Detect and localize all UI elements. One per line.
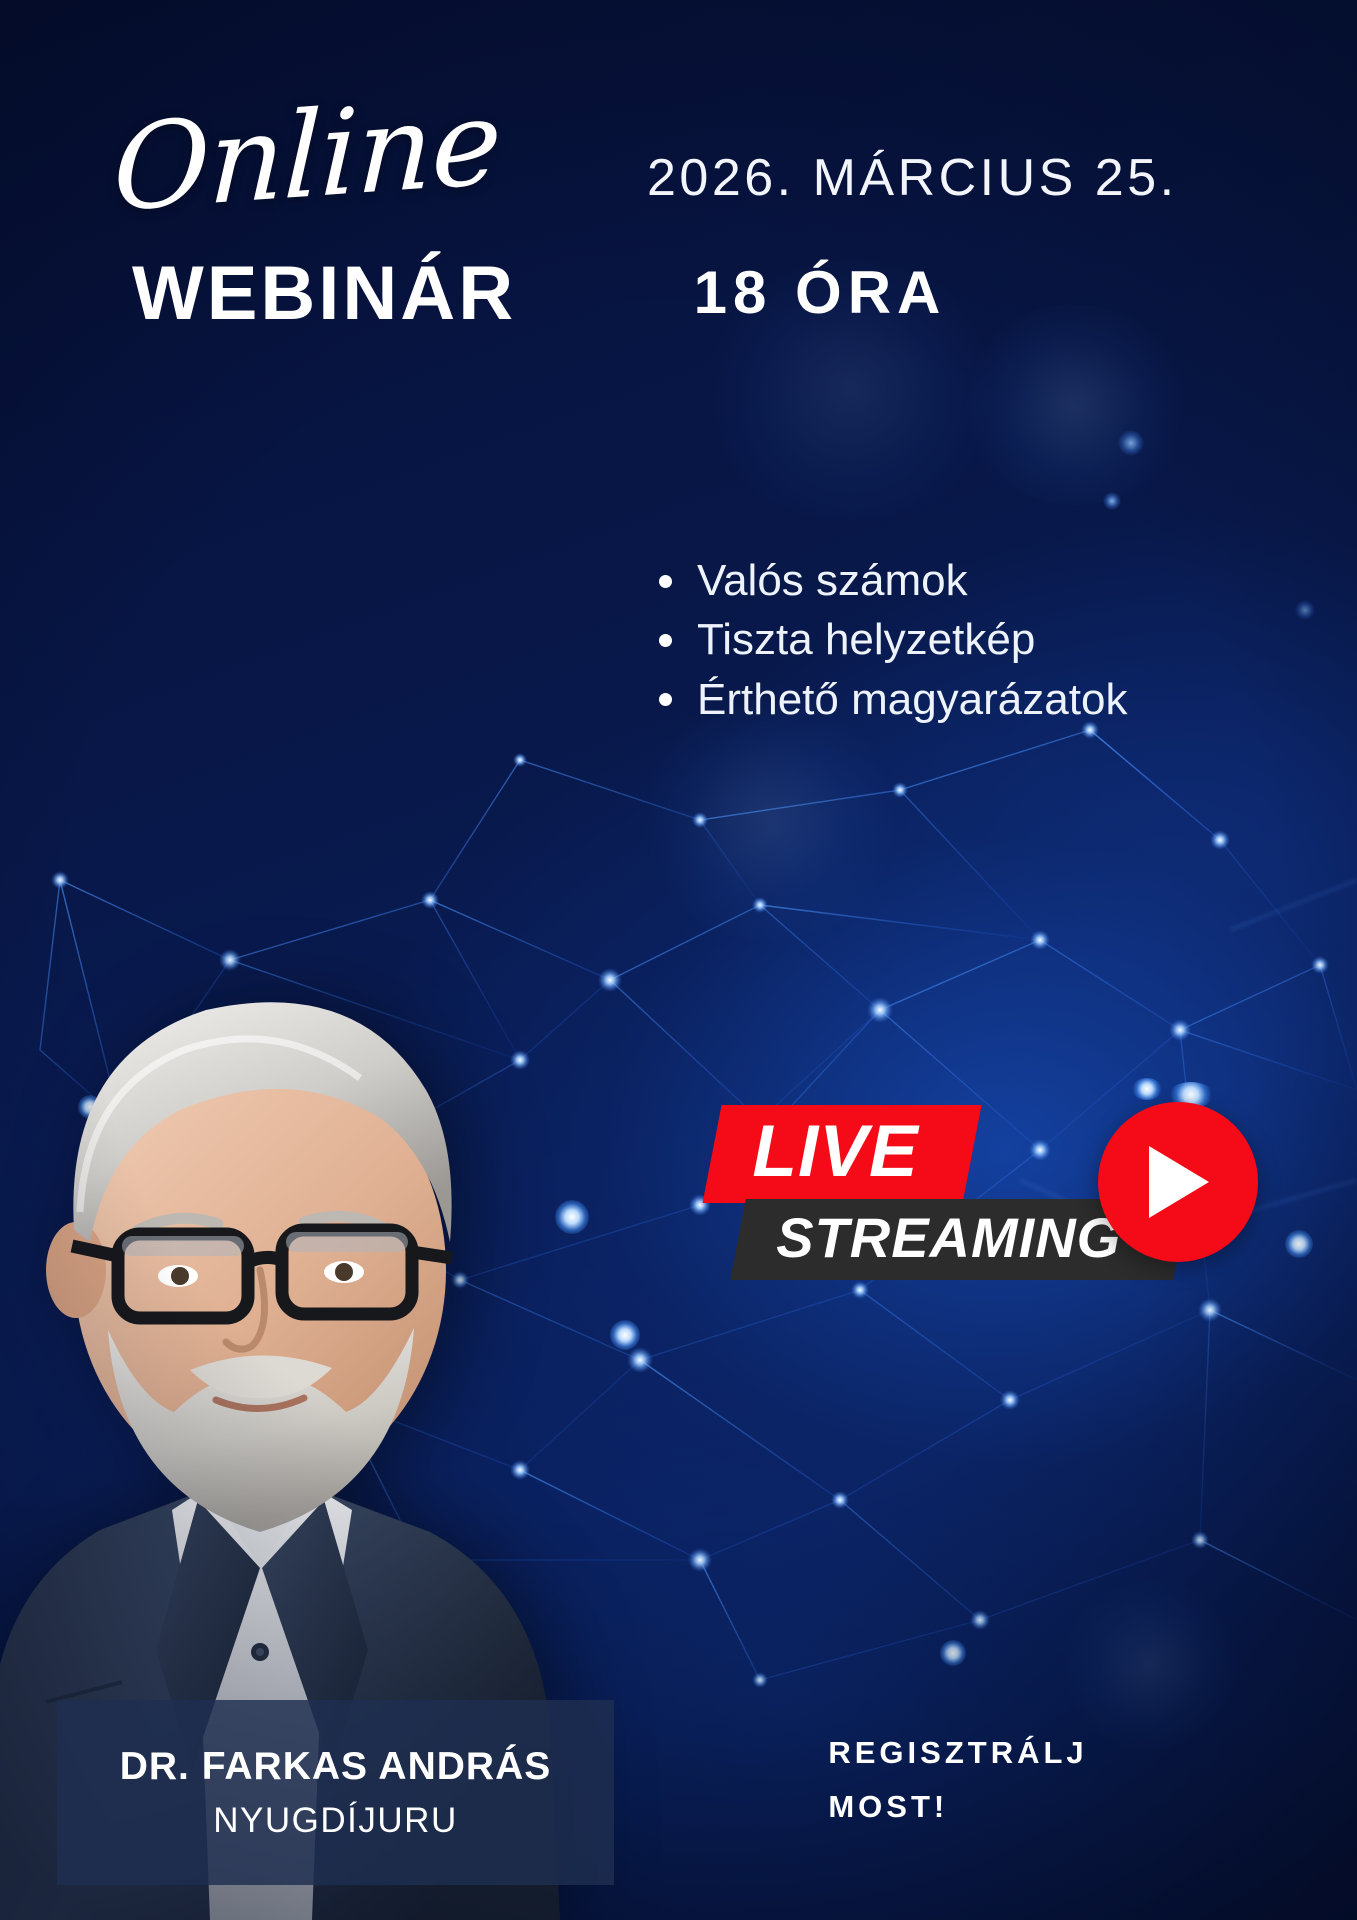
cta-line-1: REGISZTRÁLJ — [828, 1726, 1087, 1780]
page-title: WEBINÁR — [132, 256, 516, 332]
script-online-word: Online — [111, 82, 502, 228]
event-date: 2026. MÁRCIUS 25. — [647, 148, 1178, 208]
feature-bullet-list: Valós számok Tiszta helyzetkép Érthető m… — [653, 551, 1293, 729]
list-item: Valós számok — [653, 551, 1293, 610]
speaker-title: NYUGDÍJURU — [213, 1801, 457, 1841]
speaker-nameplate: DR. FARKAS ANDRÁS NYUGDÍJURU — [57, 1700, 614, 1885]
list-item: Tiszta helyzetkép — [653, 610, 1293, 669]
play-button[interactable] — [1098, 1102, 1258, 1262]
cta-line-2: MOST! — [828, 1780, 1087, 1834]
live-label-chip: LIVE — [702, 1105, 981, 1203]
streaming-label: STREAMING — [776, 1209, 1121, 1268]
speaker-name: DR. FARKAS ANDRÁS — [120, 1745, 552, 1789]
list-item: Érthető magyarázatok — [653, 670, 1293, 729]
webinar-poster: Online WEBINÁR 2026. MÁRCIUS 25. 18 ÓRA … — [0, 0, 1357, 1920]
live-label: LIVE — [752, 1115, 918, 1189]
registration-cta[interactable]: REGISZTRÁLJ MOST! — [828, 1726, 1087, 1835]
live-streaming-badge: LIVE STREAMING — [712, 1105, 972, 1203]
play-icon — [1141, 1142, 1215, 1222]
event-time: 18 ÓRA — [694, 258, 947, 327]
